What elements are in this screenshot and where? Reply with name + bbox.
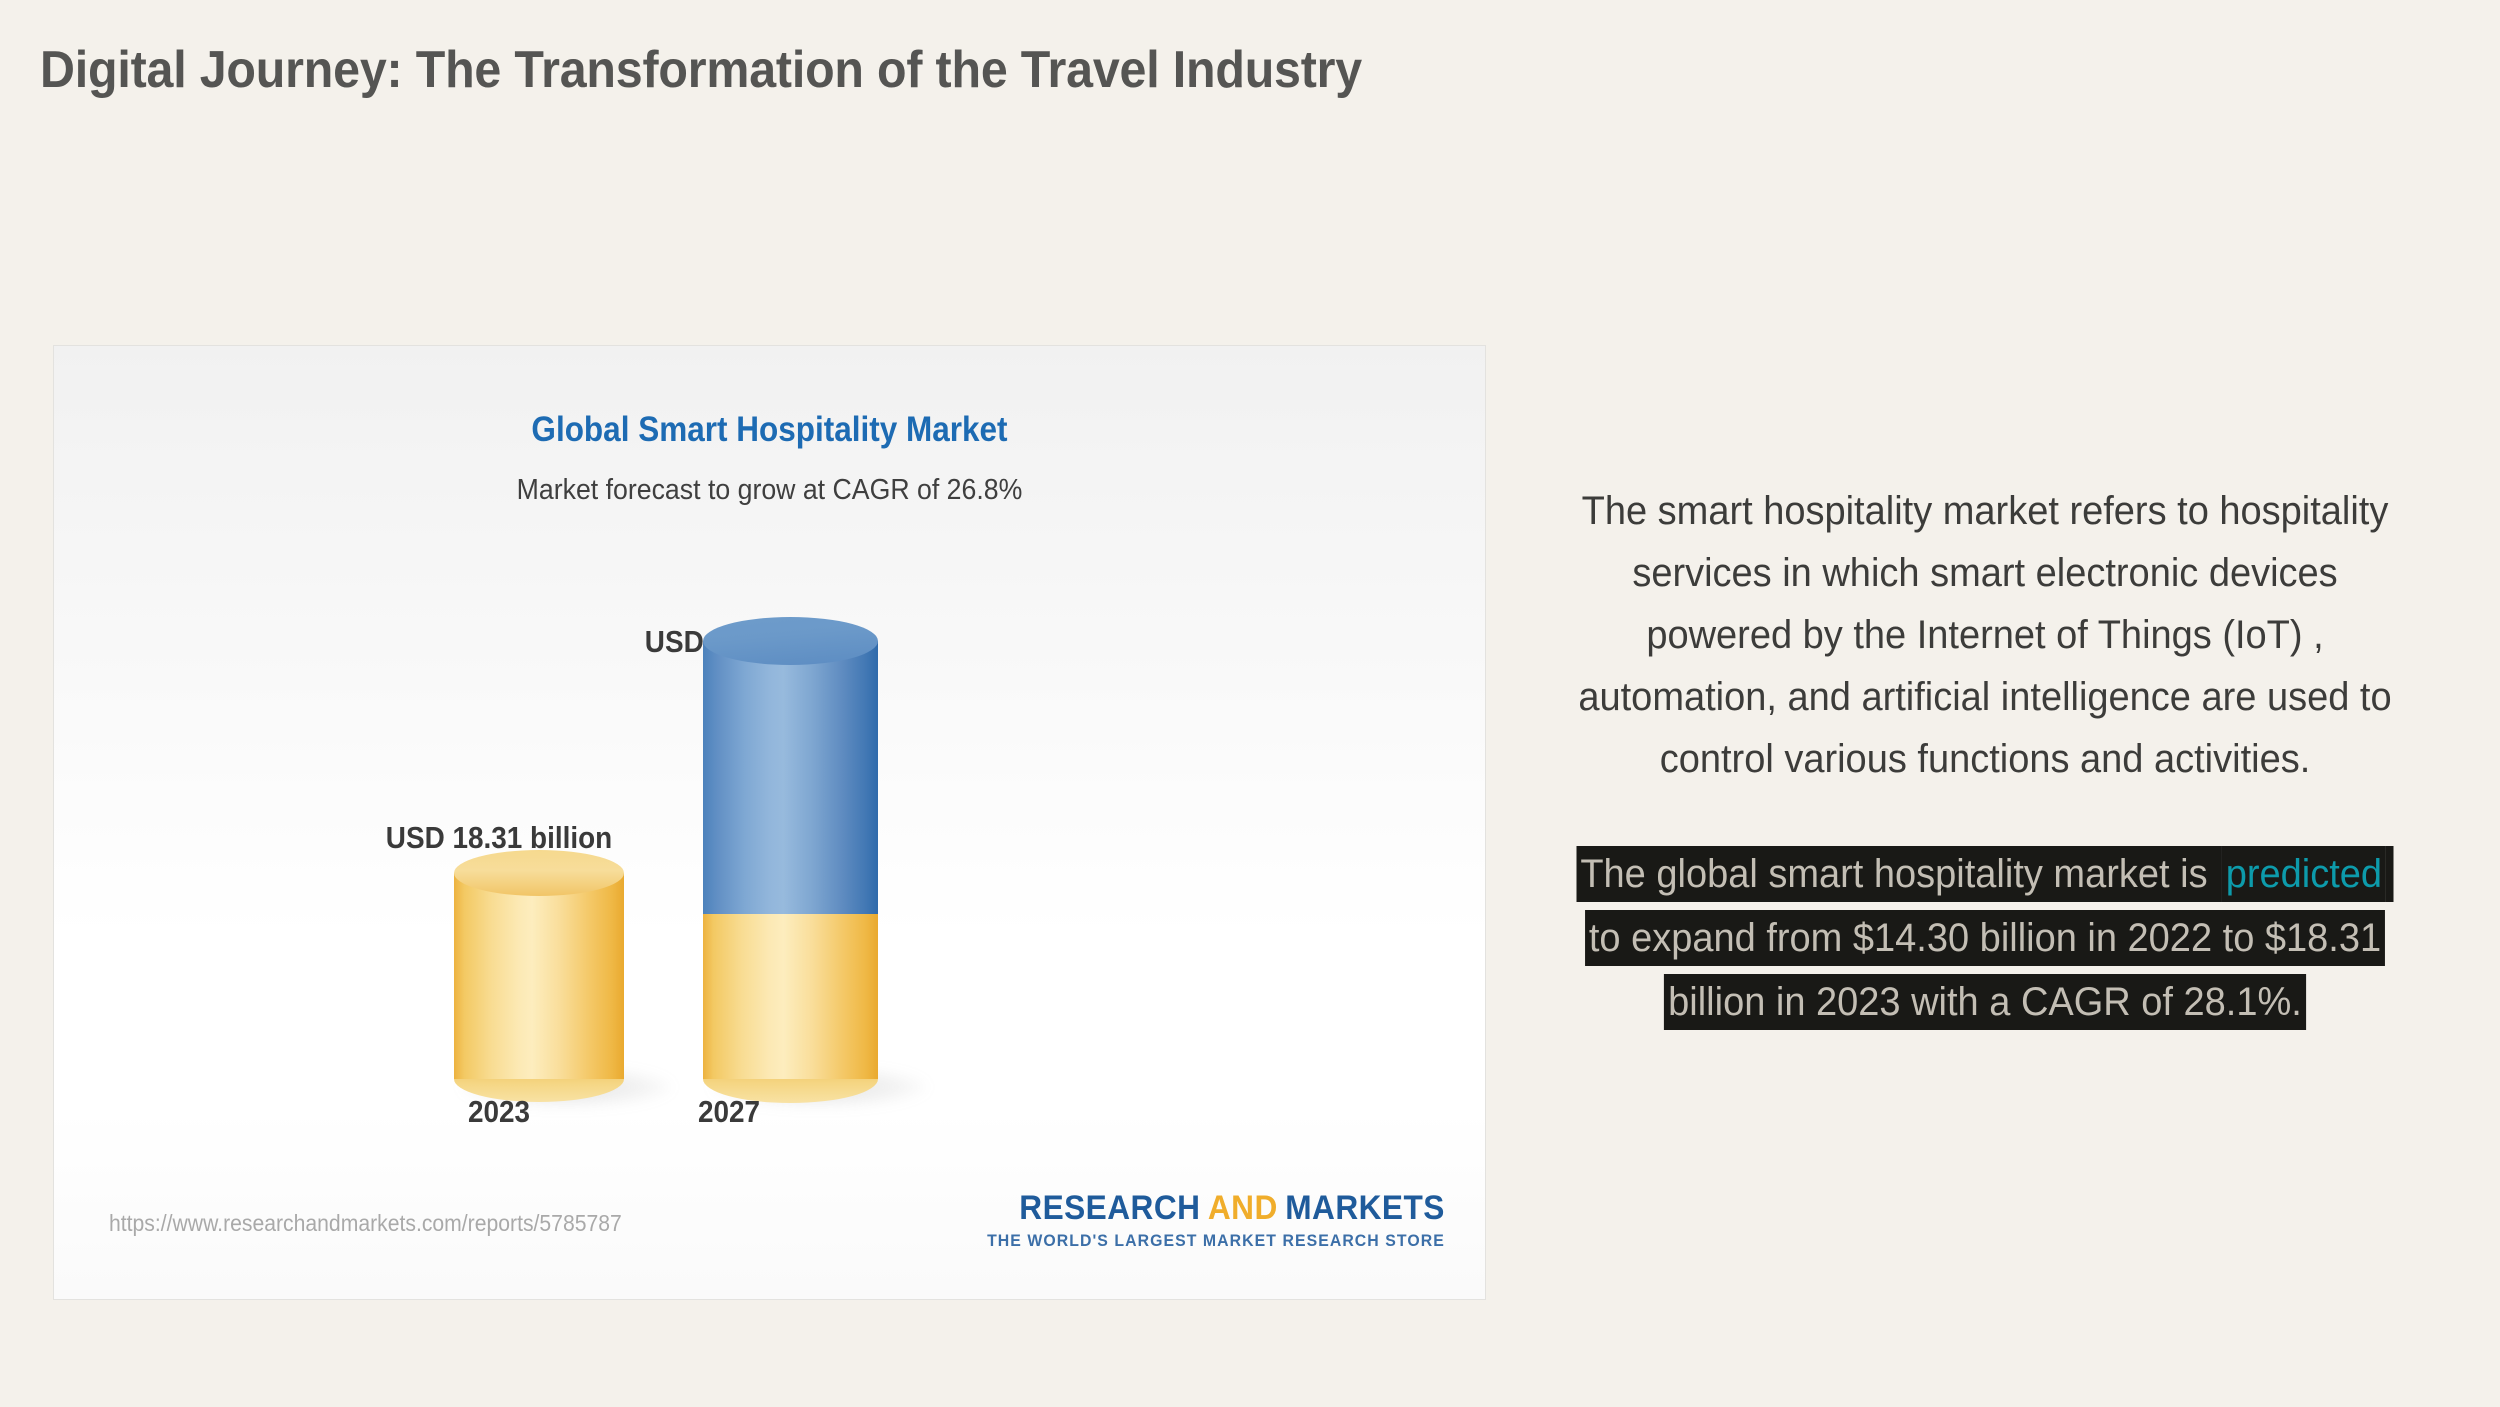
logo-tagline: THE WORLD'S LARGEST MARKET RESEARCH STOR… (987, 1232, 1445, 1251)
bar-2023 (454, 873, 624, 1079)
highlight-text-emphasis: predicted (2222, 846, 2386, 902)
bar-2023-top-ellipse (454, 850, 624, 896)
logo-word-research: RESEARCH (1019, 1189, 1200, 1227)
chart-title: Global Smart Hospitality Market (126, 410, 1414, 450)
logo-wordmark: RESEARCHANDMARKETS (1002, 1189, 1445, 1228)
bar-2023-body (454, 873, 624, 1079)
chart-subtitle: Market forecast to grow at CAGR of 26.8% (111, 474, 1428, 507)
bar-2027-top-ellipse (703, 617, 878, 665)
description-panel: The smart hospitality market refers to h… (1545, 440, 2425, 1074)
logo-word-markets: MARKETS (1285, 1189, 1445, 1227)
highlighted-paragraph: The global smart hospitality market is p… (1567, 842, 2403, 1034)
chart-card: Global Smart Hospitality Market Market f… (53, 345, 1486, 1300)
bar-2027 (703, 641, 878, 1079)
x-axis-label-2027: 2027 (594, 1094, 864, 1130)
logo-word-and: AND (1208, 1189, 1278, 1227)
intro-paragraph: The smart hospitality market refers to h… (1567, 480, 2403, 790)
page-title: Digital Journey: The Transformation of t… (40, 40, 1362, 100)
bar-2027-yellow-segment (703, 914, 878, 1079)
research-and-markets-logo: RESEARCHANDMARKETS THE WORLD'S LARGEST M… (968, 1189, 1445, 1251)
chart-figure: Global Smart Hospitality Market Market f… (54, 346, 1485, 1299)
bar-data-label-2023: USD 18.31 billion (369, 820, 630, 856)
bar-2027-blue-segment (703, 641, 878, 914)
source-url[interactable]: https://www.researchandmarkets.com/repor… (109, 1210, 622, 1237)
highlight-text-before: The global smart hospitality market is (1577, 846, 2222, 902)
